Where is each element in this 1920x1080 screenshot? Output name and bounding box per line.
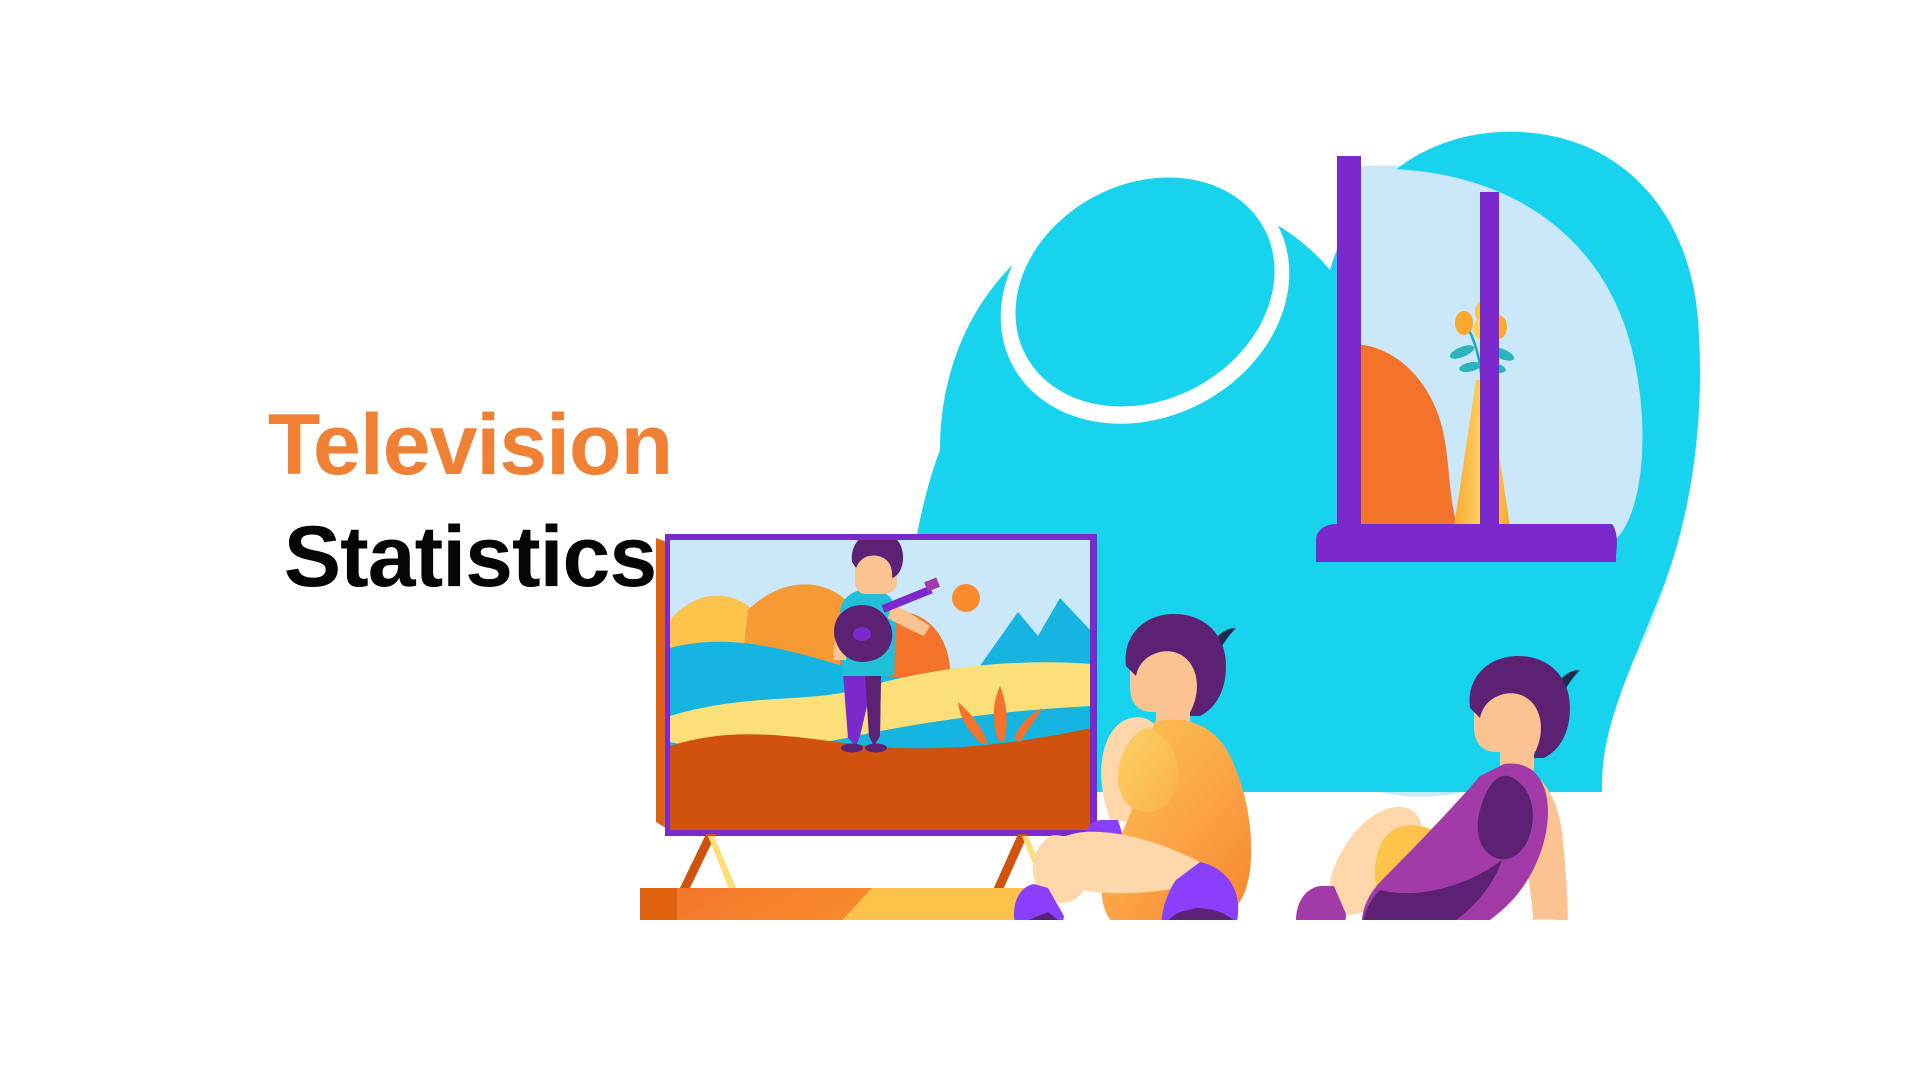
window-mullion-right xyxy=(1480,192,1499,546)
tv-leg-right-dark xyxy=(992,834,1028,892)
person-right-ear xyxy=(1515,709,1529,727)
person-left-ear xyxy=(1171,667,1185,685)
guitarist-shoe-right xyxy=(865,744,887,753)
tv-cabinet-left-panel xyxy=(640,888,677,920)
illustration-canvas: Television Statistics xyxy=(0,0,1920,1080)
tv-screen-scene xyxy=(670,532,1092,832)
television-illustration xyxy=(640,120,1880,920)
tv-cabinet xyxy=(640,888,1055,920)
window-mullion-left xyxy=(1337,156,1361,546)
window-sill-shadow xyxy=(1316,546,1616,562)
guitar-soundhole xyxy=(853,627,871,641)
guitarist-shoe-left xyxy=(841,744,863,753)
scene-sun xyxy=(952,584,980,612)
television[interactable] xyxy=(656,532,1097,892)
tv-leg-left-light xyxy=(708,836,738,892)
tv-legs xyxy=(678,834,1052,892)
tv-leg-left-dark xyxy=(678,834,716,892)
